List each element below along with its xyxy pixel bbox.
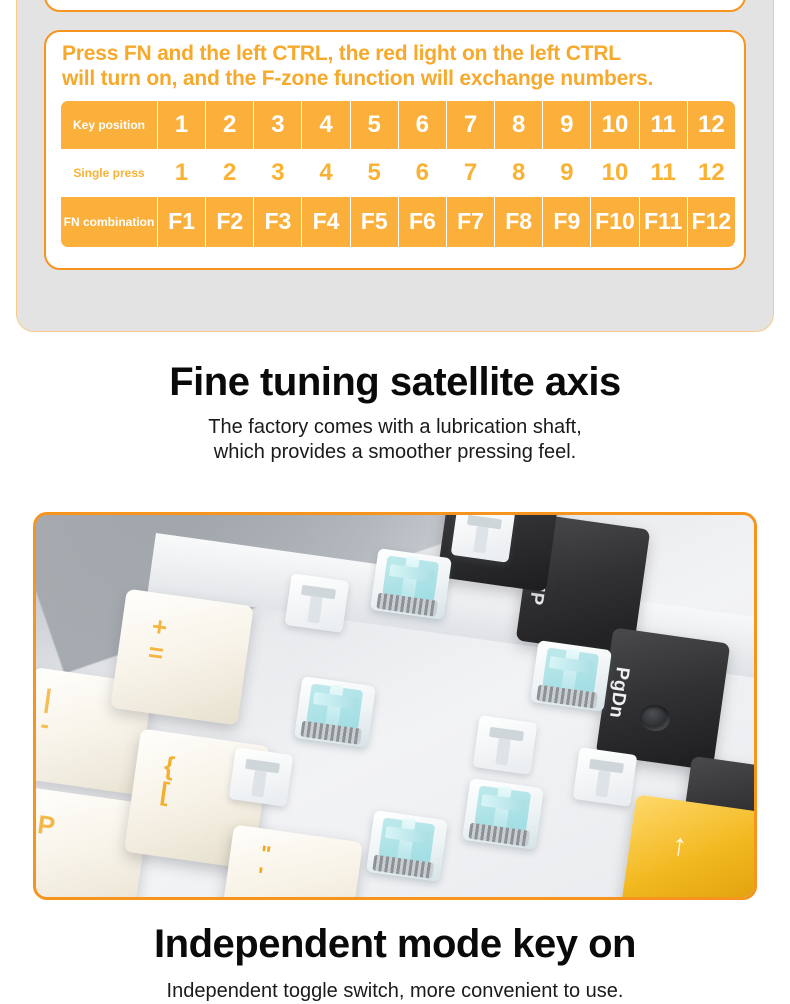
table-cell: 11: [640, 101, 687, 149]
table-cell: 5: [351, 101, 398, 149]
switch-cyan: [530, 640, 612, 712]
switch-cyan: [366, 810, 448, 882]
table-row: FN combination F1 F2 F3 F4 F5 F6 F7 F8 F…: [61, 197, 735, 247]
section-title: Independent mode key on: [0, 922, 790, 967]
stabilizer-clip: [573, 747, 638, 807]
keycap-pgdn: PgDn: [596, 627, 731, 770]
stabilizer-clip: [473, 715, 538, 775]
table-cell: F4: [302, 197, 349, 247]
table-cell: F9: [543, 197, 590, 247]
table-cell: 1: [158, 101, 205, 149]
section-satellite-axis: Fine tuning satellite axis The factory c…: [0, 360, 790, 466]
table-cell: F11: [640, 197, 687, 247]
table-cell: F8: [495, 197, 542, 247]
switch-cyan: [462, 778, 544, 850]
table-cell: F3: [254, 197, 301, 247]
table-cell: 7: [447, 101, 494, 149]
table-cell: 11: [640, 149, 687, 197]
table-cell: 6: [399, 101, 446, 149]
row-label-fn-combination: FN combination: [61, 197, 157, 247]
section-title: Fine tuning satellite axis: [0, 360, 790, 405]
fn-key-table: Key position 1 2 3 4 5 6 7 8 9 10 11 12 …: [60, 101, 736, 247]
table-cell: 6: [399, 149, 446, 197]
stabilizer-clip: [451, 512, 516, 563]
table-row: Single press 1 2 3 4 5 6 7 8 9 10 11 12: [61, 149, 735, 197]
keycap-plus-equals: + =: [110, 589, 253, 726]
table-cell: 8: [495, 149, 542, 197]
table-cell: F2: [206, 197, 253, 247]
table-cell: 1: [158, 149, 205, 197]
table-cell: 12: [688, 101, 735, 149]
product-photo-switches: | - + = P { [ " ' PgUP PgDn ↑: [33, 512, 757, 900]
table-cell: F12: [688, 197, 735, 247]
table-cell: 8: [495, 101, 542, 149]
table-cell: F10: [591, 197, 638, 247]
table-cell: 2: [206, 101, 253, 149]
table-cell: 10: [591, 101, 638, 149]
table-cell: F1: [158, 197, 205, 247]
table-cell: F6: [399, 197, 446, 247]
table-cell: 2: [206, 149, 253, 197]
section-subtitle: Independent toggle switch, more convenie…: [0, 979, 790, 1004]
table-cell: 7: [447, 149, 494, 197]
table-cell: 5: [351, 149, 398, 197]
fn-card-heading: Press FN and the left CTRL, the red ligh…: [60, 42, 730, 92]
table-cell: 3: [254, 149, 301, 197]
table-row: Key position 1 2 3 4 5 6 7 8 9 10 11 12: [61, 101, 735, 149]
table-cell: 9: [543, 101, 590, 149]
stabilizer-clip: [285, 573, 350, 633]
switch-cyan: [294, 676, 376, 748]
table-cell: 12: [688, 149, 735, 197]
row-label-single-press: Single press: [61, 149, 157, 197]
table-cell: F7: [447, 197, 494, 247]
row-label-key-position: Key position: [61, 101, 157, 149]
table-cell: 10: [591, 149, 638, 197]
table-cell: F5: [351, 197, 398, 247]
section-independent-mode: Independent mode key on Independent togg…: [0, 922, 790, 1004]
keycap-arrow-up: ↑: [621, 794, 757, 900]
stabilizer-clip: [229, 747, 294, 807]
section-subtitle: The factory comes with a lubrication sha…: [0, 415, 790, 466]
table-cell: 3: [254, 101, 301, 149]
table-cell: 4: [302, 101, 349, 149]
switch-cyan: [370, 548, 452, 620]
keycap-quote: " ': [219, 824, 363, 900]
table-cell: 9: [543, 149, 590, 197]
previous-info-card: [44, 0, 746, 12]
photo-background: | - + = P { [ " ' PgUP PgDn ↑: [36, 515, 754, 897]
table-cell: 4: [302, 149, 349, 197]
fn-combination-card: Press FN and the left CTRL, the red ligh…: [44, 30, 746, 270]
